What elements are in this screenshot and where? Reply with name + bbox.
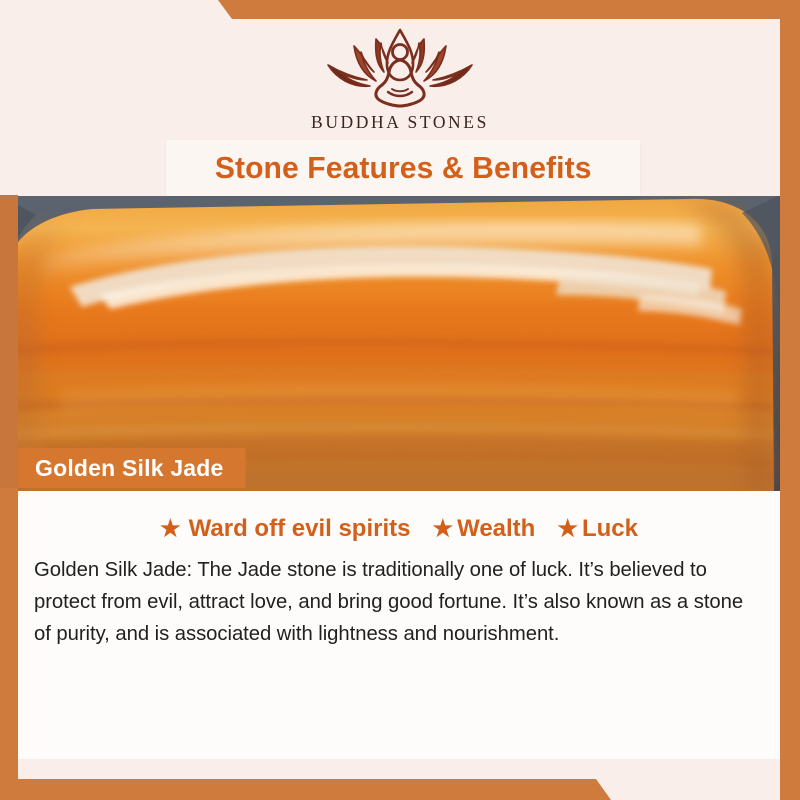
brand-name: BUDDHA STONES bbox=[311, 112, 489, 133]
benefit-item-wealth: ★ Wealth bbox=[432, 515, 535, 543]
stone-name-banner: Golden Silk Jade bbox=[18, 448, 246, 488]
benefit-label: Wealth bbox=[457, 515, 535, 543]
benefit-item-luck: ★ Luck bbox=[557, 515, 638, 543]
star-icon: ★ bbox=[160, 517, 181, 540]
frame-left-upper bbox=[0, 195, 18, 488]
content-panel: ★ Ward off evil spirits ★ Wealth ★ Luck … bbox=[18, 491, 780, 759]
section-title-card: Stone Features & Benefits bbox=[166, 140, 640, 196]
frame-left-bar bbox=[0, 488, 18, 800]
frame-bottom-bar bbox=[0, 779, 800, 800]
star-icon: ★ bbox=[557, 517, 578, 540]
star-icon: ★ bbox=[432, 517, 453, 540]
product-photo bbox=[0, 195, 780, 491]
stone-name-label: Golden Silk Jade bbox=[35, 455, 224, 482]
benefit-label: Ward off evil spirits bbox=[189, 515, 411, 543]
benefit-item-ward-off-evil-spirits: ★ Ward off evil spirits bbox=[160, 515, 410, 543]
stone-description: Golden Silk Jade: The Jade stone is trad… bbox=[34, 554, 764, 650]
brand-logo: BUDDHA STONES bbox=[0, 22, 800, 133]
promo-card: BUDDHA STONES bbox=[0, 0, 800, 800]
page-title: Stone Features & Benefits bbox=[215, 150, 592, 186]
benefits-list: ★ Ward off evil spirits ★ Wealth ★ Luck bbox=[18, 491, 780, 543]
lotus-meditating-figure-logo-icon bbox=[314, 22, 486, 108]
frame-right-bar bbox=[780, 0, 800, 800]
benefit-label: Luck bbox=[582, 515, 638, 543]
